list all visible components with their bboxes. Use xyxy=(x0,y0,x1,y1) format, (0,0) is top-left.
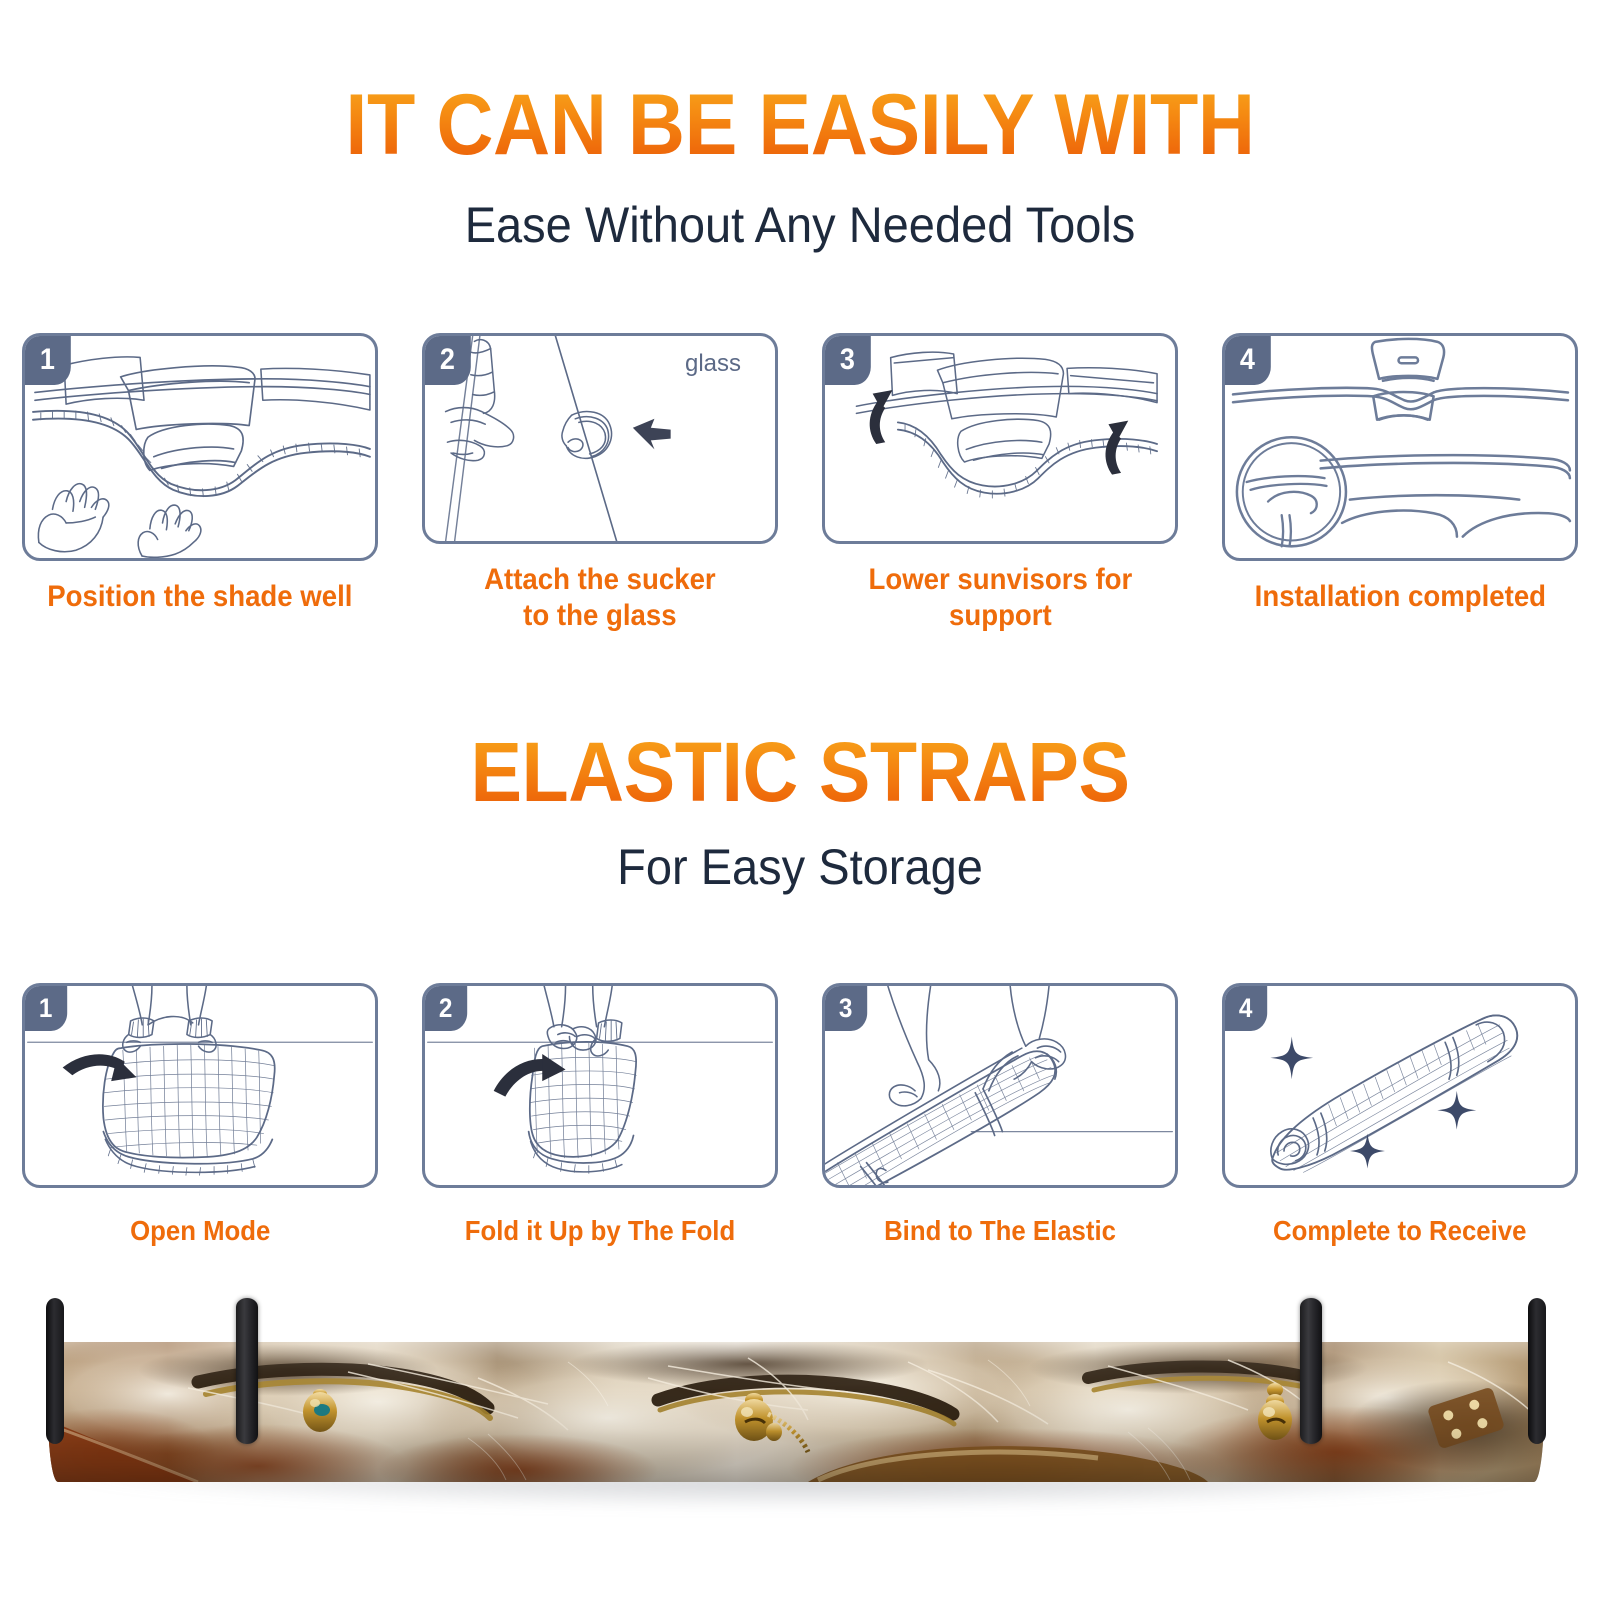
step-number-badge: 1 xyxy=(24,985,67,1031)
step-card-install-3: 3 xyxy=(800,333,1200,633)
step-panel-install-2: 2 glass xyxy=(422,333,778,544)
section-2-headline: ELASTIC STRAPS xyxy=(64,730,1536,814)
sunvisors-down-arrows-icon xyxy=(825,336,1175,541)
step-caption-storage-1: Open Mode xyxy=(130,1214,270,1247)
hands-holding-open-shade-icon xyxy=(25,986,375,1185)
roll-end-cap-right xyxy=(1528,1298,1546,1444)
hands-folding-shade-icon xyxy=(425,986,775,1185)
step-caption-install-4: Installation completed xyxy=(1254,579,1545,614)
hands-binding-elastic-strap-icon xyxy=(825,986,1175,1185)
rolled-shade-sparkles-icon xyxy=(1225,986,1575,1185)
step-number-badge: 4 xyxy=(1224,335,1271,385)
step-number-badge: 3 xyxy=(824,985,867,1031)
step-panel-storage-2: 2 xyxy=(422,983,778,1188)
step-card-storage-3: 3 xyxy=(800,983,1200,1253)
step-card-storage-4: 4 xyxy=(1200,983,1600,1253)
elastic-strap-1 xyxy=(236,1298,258,1444)
step-number-badge: 2 xyxy=(424,335,471,385)
elastic-strap-2 xyxy=(1300,1298,1322,1444)
step-card-storage-2: 2 xyxy=(400,983,800,1253)
car-dashboard-shade-hands-icon xyxy=(25,336,375,558)
step-card-install-4: 4 xyxy=(1200,333,1600,633)
step-caption-install-1: Position the shade well xyxy=(47,579,352,614)
step-panel-install-3: 3 xyxy=(822,333,1178,544)
step-card-install-2: 2 glass xyxy=(400,333,800,633)
step-number-badge: 1 xyxy=(24,335,71,385)
step-caption-storage-4: Complete to Receive xyxy=(1273,1214,1526,1247)
install-steps-row: 1 xyxy=(0,333,1600,633)
infographic-page: IT CAN BE EASILY WITH Ease Without Any N… xyxy=(0,0,1600,1600)
roll-end-cap-left xyxy=(46,1298,64,1444)
step-card-install-1: 1 xyxy=(0,333,400,633)
step-panel-install-1: 1 xyxy=(22,333,378,561)
section-2-subhead: For Easy Storage xyxy=(48,838,1552,896)
section-1-subhead: Ease Without Any Needed Tools xyxy=(48,196,1552,254)
installed-windshield-steering-wheel-icon xyxy=(1225,336,1575,558)
step-number-badge: 4 xyxy=(1224,985,1267,1031)
step-panel-install-4: 4 xyxy=(1222,333,1578,561)
step-caption-install-2: Attach the sucker to the glass xyxy=(484,562,716,633)
step-number-badge: 2 xyxy=(424,985,467,1031)
step-panel-storage-1: 1 xyxy=(22,983,378,1188)
step-number-badge: 3 xyxy=(824,335,871,385)
step-card-storage-1: 1 xyxy=(0,983,400,1253)
step-panel-storage-3: 3 xyxy=(822,983,1178,1188)
product-photo-area xyxy=(0,1300,1600,1560)
step-caption-storage-2: Fold it Up by The Fold xyxy=(465,1214,735,1247)
step-panel-storage-4: 4 xyxy=(1222,983,1578,1188)
storage-steps-row: 1 xyxy=(0,983,1600,1253)
glass-label: glass xyxy=(685,350,741,378)
section-1-headline: IT CAN BE EASILY WITH xyxy=(64,82,1536,168)
step-caption-storage-3: Bind to The Elastic xyxy=(884,1214,1116,1247)
step-caption-install-3: Lower sunvisors for support xyxy=(868,562,1132,633)
